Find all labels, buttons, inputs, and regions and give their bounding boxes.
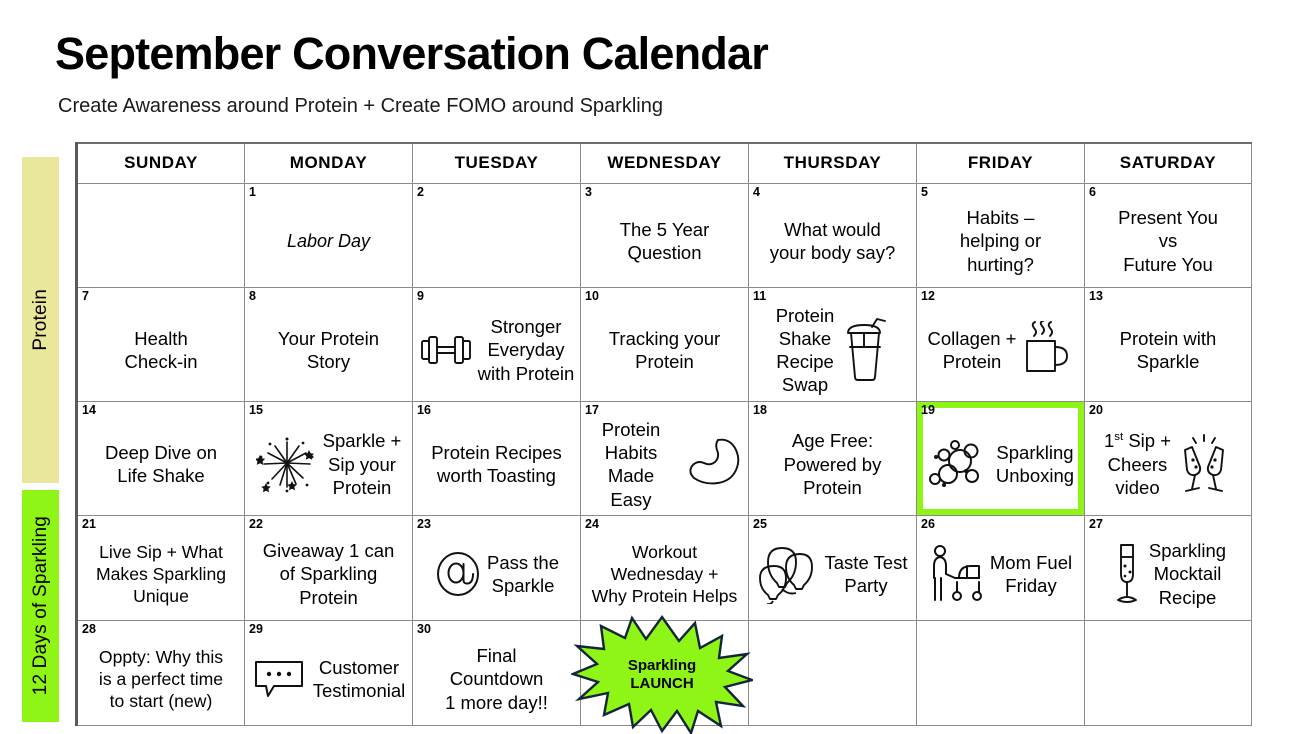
day-content: Oppty: Why thisis a perfect timeto start… bbox=[78, 621, 244, 725]
day-number: 14 bbox=[82, 403, 96, 418]
page-title: September Conversation Calendar bbox=[55, 28, 768, 80]
column-header-tuesday: TUESDAY bbox=[413, 143, 581, 183]
day-content: Sparkle +Sip yourProtein bbox=[245, 402, 412, 515]
day-content: Present YouvsFuture You bbox=[1085, 184, 1251, 287]
day-label: Habits –helping orhurting? bbox=[960, 206, 1041, 276]
day-content: The 5 YearQuestion bbox=[581, 184, 748, 287]
calendar-day-15[interactable]: 15 Sparkle +Sip yourProtein bbox=[245, 401, 413, 515]
calendar-day-2[interactable]: 2 bbox=[413, 183, 581, 287]
calendar-day-27[interactable]: 27 SparklingMocktailRecipe bbox=[1085, 515, 1252, 620]
day-content: Habits –helping orhurting? bbox=[917, 184, 1084, 287]
smoothie-cup-icon bbox=[839, 317, 889, 383]
day-number: 15 bbox=[249, 403, 263, 418]
day-number: 25 bbox=[753, 517, 767, 532]
day-content: WorkoutWednesday +Why Protein Helps bbox=[581, 516, 748, 620]
day-label: The 5 YearQuestion bbox=[620, 218, 710, 265]
calendar-day-empty bbox=[917, 620, 1085, 725]
day-label: Giveaway 1 canof SparklingProtein bbox=[263, 539, 395, 609]
dumbbell-icon bbox=[419, 329, 473, 371]
day-label: Collagen +Protein bbox=[928, 327, 1017, 374]
day-number: 27 bbox=[1089, 517, 1103, 532]
day-number: 30 bbox=[417, 622, 431, 637]
bubbles-icon bbox=[927, 435, 991, 493]
day-content: Mom FuelFriday bbox=[917, 516, 1084, 620]
day-label: Pass theSparkle bbox=[487, 551, 559, 598]
day-number: 2 bbox=[417, 185, 424, 200]
day-label: ProteinHabitsMade Easy bbox=[585, 418, 677, 511]
calendar-day-21[interactable]: 21Live Sip + WhatMakes SparklingUnique bbox=[77, 515, 245, 620]
day-number: 12 bbox=[921, 289, 935, 304]
day-content: Labor Day bbox=[245, 184, 412, 287]
day-content: StrongerEverydaywith Protein bbox=[413, 288, 580, 401]
calendar-day-14[interactable]: 14Deep Dive onLife Shake bbox=[77, 401, 245, 515]
day-number: 26 bbox=[921, 517, 935, 532]
calendar-day-1[interactable]: 1Labor Day bbox=[245, 183, 413, 287]
day-label: Protein Recipesworth Toasting bbox=[431, 441, 562, 488]
day-number: 21 bbox=[82, 517, 96, 532]
day-number: 10 bbox=[585, 289, 599, 304]
day-label: 1st Sip +Cheersvideo bbox=[1104, 429, 1171, 499]
day-number: 23 bbox=[417, 517, 431, 532]
day-label: Mom FuelFriday bbox=[990, 551, 1072, 598]
day-label: Taste TestParty bbox=[825, 551, 908, 598]
day-label: Sparkle +Sip yourProtein bbox=[323, 429, 402, 499]
day-number: 17 bbox=[585, 403, 599, 418]
day-content: HealthCheck-in bbox=[78, 288, 244, 401]
day-label: HealthCheck-in bbox=[125, 327, 198, 374]
day-content: FinalCountdown1 more day!! bbox=[413, 621, 580, 725]
day-content: Taste TestParty bbox=[749, 516, 916, 620]
day-number: 11 bbox=[753, 289, 766, 304]
calendar-day-17[interactable]: 17ProteinHabitsMade Easy bbox=[581, 401, 749, 515]
day-content: CustomerTestimonial bbox=[245, 621, 412, 725]
launch-badge-line1: Sparkling bbox=[628, 657, 696, 675]
day-number: 5 bbox=[921, 185, 928, 200]
day-content: ProteinHabitsMade Easy bbox=[581, 402, 748, 515]
calendar-day-12[interactable]: 12Collagen +Protein bbox=[917, 287, 1085, 401]
calendar-week-row: 14Deep Dive onLife Shake15 Sparkle +Sip … bbox=[77, 401, 1252, 515]
column-header-wednesday: WEDNESDAY bbox=[581, 143, 749, 183]
calendar-day-20[interactable]: 201st Sip +Cheersvideo bbox=[1085, 401, 1252, 515]
calendar-day-24[interactable]: 24WorkoutWednesday +Why Protein Helps bbox=[581, 515, 749, 620]
day-number: 18 bbox=[753, 403, 767, 418]
calendar-header-row: SUNDAY MONDAY TUESDAY WEDNESDAY THURSDAY… bbox=[77, 143, 1252, 183]
calendar-day-7[interactable]: 7HealthCheck-in bbox=[77, 287, 245, 401]
column-header-thursday: THURSDAY bbox=[749, 143, 917, 183]
calendar-day-10[interactable]: 10Tracking yourProtein bbox=[581, 287, 749, 401]
day-label: ProteinShakeRecipeSwap bbox=[776, 304, 835, 397]
champagne-flute-icon bbox=[1110, 542, 1144, 606]
day-label: CustomerTestimonial bbox=[313, 656, 406, 703]
calendar-day-13[interactable]: 13Protein withSparkle bbox=[1085, 287, 1252, 401]
day-number: 16 bbox=[417, 403, 431, 418]
column-header-friday: FRIDAY bbox=[917, 143, 1085, 183]
day-label: Deep Dive onLife Shake bbox=[105, 441, 217, 488]
day-number: 7 bbox=[82, 289, 89, 304]
day-number: 20 bbox=[1089, 403, 1103, 418]
day-number: 8 bbox=[249, 289, 256, 304]
column-header-sunday: SUNDAY bbox=[77, 143, 245, 183]
calendar-day-6[interactable]: 6Present YouvsFuture You bbox=[1085, 183, 1252, 287]
calendar-week-row: 21Live Sip + WhatMakes SparklingUnique22… bbox=[77, 515, 1252, 620]
calendar-day-4[interactable]: 4What wouldyour body say? bbox=[749, 183, 917, 287]
day-number: 1 bbox=[249, 185, 256, 200]
day-number: 4 bbox=[753, 185, 760, 200]
calendar-day-26[interactable]: 26 Mom FuelFriday bbox=[917, 515, 1085, 620]
day-label: Tracking yourProtein bbox=[609, 327, 720, 374]
day-number: 24 bbox=[585, 517, 599, 532]
day-content: Tracking yourProtein bbox=[581, 288, 748, 401]
calendar-day-9[interactable]: 9 StrongerEverydaywith Protein bbox=[413, 287, 581, 401]
calendar-day-18[interactable]: 18Age Free:Powered byProtein bbox=[749, 401, 917, 515]
day-label: SparklingUnboxing bbox=[996, 441, 1074, 488]
flexed-bicep-icon bbox=[682, 436, 744, 492]
calendar-day-30[interactable]: 30FinalCountdown1 more day!! bbox=[413, 620, 581, 725]
day-content: Protein withSparkle bbox=[1085, 288, 1251, 401]
day-content: Deep Dive onLife Shake bbox=[78, 402, 244, 515]
day-number: 22 bbox=[249, 517, 263, 532]
clinking-glasses-icon bbox=[1176, 433, 1232, 495]
day-label: Your ProteinStory bbox=[278, 327, 379, 374]
day-label: Age Free:Powered byProtein bbox=[784, 429, 882, 499]
calendar-day-empty bbox=[749, 620, 917, 725]
stroller-icon bbox=[929, 544, 985, 604]
calendar-day-3[interactable]: 3The 5 YearQuestion bbox=[581, 183, 749, 287]
calendar-day-16[interactable]: 16Protein Recipesworth Toasting bbox=[413, 401, 581, 515]
day-label: StrongerEverydaywith Protein bbox=[478, 315, 575, 385]
day-number: 6 bbox=[1089, 185, 1096, 200]
column-header-monday: MONDAY bbox=[245, 143, 413, 183]
day-label: Protein withSparkle bbox=[1120, 327, 1217, 374]
day-number: 13 bbox=[1089, 289, 1103, 304]
calendar-day-23[interactable]: 23 Pass theSparkle bbox=[413, 515, 581, 620]
day-label: Oppty: Why thisis a perfect timeto start… bbox=[99, 646, 223, 712]
day-content: Protein Recipesworth Toasting bbox=[413, 402, 580, 515]
hot-mug-icon bbox=[1021, 321, 1073, 379]
fireworks-icon bbox=[256, 433, 318, 495]
balloons-icon bbox=[758, 544, 820, 604]
sparkling-launch-badge[interactable]: Sparkling LAUNCH bbox=[571, 614, 753, 734]
day-number: 3 bbox=[585, 185, 592, 200]
day-content: SparklingUnboxing bbox=[917, 402, 1084, 515]
calendar-day-empty bbox=[1085, 620, 1252, 725]
day-number: 29 bbox=[249, 622, 263, 637]
speech-bubble-icon bbox=[252, 658, 308, 700]
category-band-sparkling: 12 Days of Sparkling bbox=[22, 490, 59, 722]
calendar-day-22[interactable]: 22Giveaway 1 canof SparklingProtein bbox=[245, 515, 413, 620]
day-content: What wouldyour body say? bbox=[749, 184, 916, 287]
day-content: 1st Sip +Cheersvideo bbox=[1085, 402, 1251, 515]
calendar-day-25[interactable]: 25 Taste TestParty bbox=[749, 515, 917, 620]
day-label: Labor Day bbox=[287, 230, 370, 253]
day-label: Live Sip + WhatMakes SparklingUnique bbox=[96, 541, 226, 607]
day-number: 28 bbox=[82, 622, 96, 637]
calendar-week-row: 7HealthCheck-in8Your ProteinStory9 Stron… bbox=[77, 287, 1252, 401]
calendar-day-11[interactable]: 11ProteinShakeRecipeSwap bbox=[749, 287, 917, 401]
calendar-day-empty bbox=[77, 183, 245, 287]
launch-badge-line2: LAUNCH bbox=[630, 675, 693, 693]
category-band-sparkling-label: 12 Days of Sparkling bbox=[30, 516, 52, 695]
day-number: 9 bbox=[417, 289, 424, 304]
day-content: Your ProteinStory bbox=[245, 288, 412, 401]
day-content: Collagen +Protein bbox=[917, 288, 1084, 401]
day-content: ProteinShakeRecipeSwap bbox=[749, 288, 916, 401]
day-content: SparklingMocktailRecipe bbox=[1085, 516, 1251, 620]
day-content: Giveaway 1 canof SparklingProtein bbox=[245, 516, 412, 620]
column-header-saturday: SATURDAY bbox=[1085, 143, 1252, 183]
day-content: Age Free:Powered byProtein bbox=[749, 402, 916, 515]
calendar-day-19[interactable]: 19 SparklingUnboxing bbox=[917, 401, 1085, 515]
at-sign-icon bbox=[434, 550, 482, 598]
calendar-week-row: 1Labor Day23The 5 YearQuestion4What woul… bbox=[77, 183, 1252, 287]
calendar-day-29[interactable]: 29 CustomerTestimonial bbox=[245, 620, 413, 725]
page-subtitle: Create Awareness around Protein + Create… bbox=[58, 95, 663, 118]
day-label: SparklingMocktailRecipe bbox=[1149, 539, 1226, 609]
day-label: What wouldyour body say? bbox=[770, 218, 895, 265]
day-label: Present YouvsFuture You bbox=[1118, 206, 1218, 276]
calendar-day-5[interactable]: 5Habits –helping orhurting? bbox=[917, 183, 1085, 287]
day-label: WorkoutWednesday +Why Protein Helps bbox=[592, 541, 738, 607]
category-band-protein: Protein bbox=[22, 157, 59, 483]
category-band-protein-label: Protein bbox=[30, 289, 52, 351]
day-content: Live Sip + WhatMakes SparklingUnique bbox=[78, 516, 244, 620]
calendar-day-28[interactable]: 28Oppty: Why thisis a perfect timeto sta… bbox=[77, 620, 245, 725]
day-label: FinalCountdown1 more day!! bbox=[445, 644, 548, 714]
calendar-day-8[interactable]: 8Your ProteinStory bbox=[245, 287, 413, 401]
day-number: 19 bbox=[921, 403, 935, 418]
launch-badge-text: Sparkling LAUNCH bbox=[571, 614, 753, 734]
day-content: Pass theSparkle bbox=[413, 516, 580, 620]
